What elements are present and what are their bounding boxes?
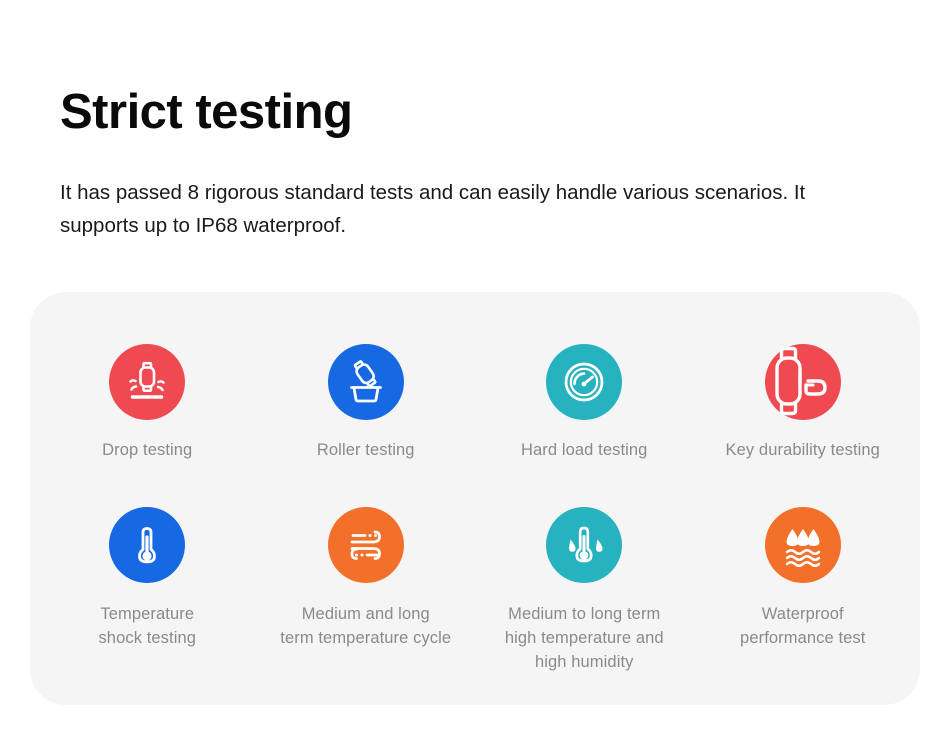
thermometer-icon — [122, 520, 172, 570]
test-item-drop-testing[interactable]: Drop testing — [38, 344, 257, 507]
watch-roller-drum-icon — [341, 357, 391, 407]
roller-testing-icon-badge — [328, 344, 404, 420]
gauge-speedometer-icon — [559, 357, 609, 407]
test-item-label: Drop testing — [102, 439, 192, 463]
test-item-temperature-cycle[interactable]: Medium and long term temperature cycle — [257, 507, 476, 705]
test-item-label: Medium and long term temperature cycle — [280, 603, 451, 651]
test-item-roller-testing[interactable]: Roller testing — [257, 344, 476, 507]
test-item-waterproof-performance-test[interactable]: Waterproof performance test — [694, 507, 913, 705]
test-item-label: Roller testing — [317, 439, 415, 463]
test-item-label: Medium to long term high temperature and… — [505, 603, 664, 675]
page-title: Strict testing — [60, 88, 352, 137]
water-droplets-waves-icon — [778, 520, 828, 570]
test-item-label: Temperature shock testing — [98, 603, 196, 651]
tests-grid: Drop testing — [30, 292, 920, 705]
tests-card: Drop testing — [30, 292, 920, 705]
high-temp-humidity-icon-badge — [546, 507, 622, 583]
page-subtitle: It has passed 8 rigorous standard tests … — [60, 176, 850, 242]
hard-load-testing-icon-badge — [546, 344, 622, 420]
test-item-hard-load-testing[interactable]: Hard load testing — [475, 344, 694, 507]
temperature-shock-icon-badge — [109, 507, 185, 583]
test-item-temperature-shock-testing[interactable]: Temperature shock testing — [38, 507, 257, 705]
strict-testing-section: Strict testing It has passed 8 rigorous … — [0, 0, 950, 753]
test-item-high-temp-humidity[interactable]: Medium to long term high temperature and… — [475, 507, 694, 705]
key-durability-icon-badge — [765, 344, 841, 420]
temperature-cycle-icon-badge — [328, 507, 404, 583]
test-item-label: Key durability testing — [726, 439, 880, 463]
watch-press-hand-icon — [763, 339, 849, 425]
drop-testing-icon-badge — [109, 344, 185, 420]
waterproof-icon-badge — [765, 507, 841, 583]
wind-airflow-icon — [341, 520, 391, 570]
test-item-key-durability-testing[interactable]: Key durability testing — [694, 344, 913, 507]
watch-drop-icon — [122, 357, 172, 407]
test-item-label: Hard load testing — [521, 439, 647, 463]
test-item-label: Waterproof performance test — [740, 603, 865, 651]
thermometer-humidity-icon — [559, 520, 609, 570]
